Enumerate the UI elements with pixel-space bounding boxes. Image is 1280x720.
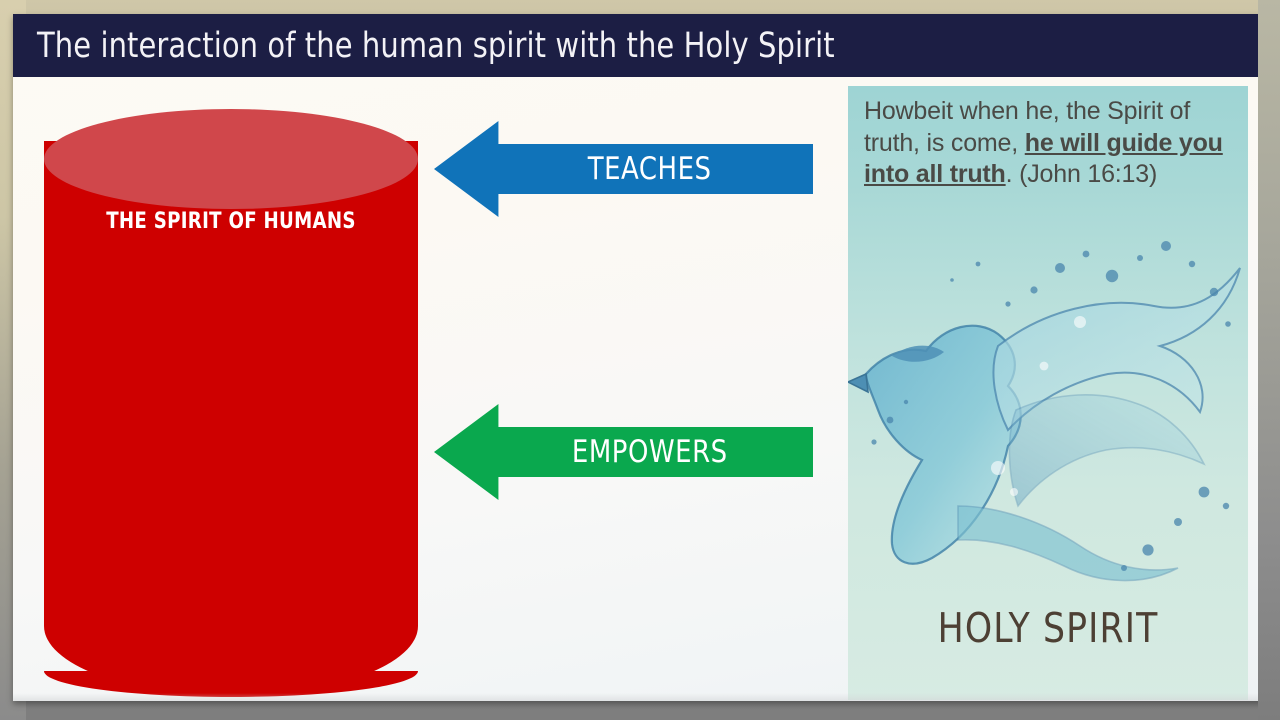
empowers-arrow: EMPOWERS: [434, 404, 813, 500]
slide-title-bar: The interaction of the human spirit with…: [13, 14, 1268, 77]
presentation-slide: The interaction of the human spirit with…: [13, 14, 1268, 701]
page-title: The interaction of the human spirit with…: [37, 26, 835, 66]
holy-spirit-panel: Howbeit when he, the Spirit of truth, is…: [848, 86, 1248, 700]
verse-reference: . (John 16:13): [1006, 160, 1157, 188]
human-spirit-cylinder: THE SPIRIT OF HUMANS: [31, 101, 406, 701]
slide-bottom-edge: [13, 693, 1268, 701]
empowers-arrow-label: EMPOWERS: [572, 434, 728, 470]
cylinder-top-ellipse: [44, 109, 418, 209]
water-splash-dove-artwork: [848, 206, 1248, 586]
teaches-arrow-label: TEACHES: [588, 151, 712, 187]
cylinder-label: THE SPIRIT OF HUMANS: [59, 209, 403, 234]
holy-spirit-caption: HOLY SPIRIT: [860, 604, 1236, 652]
verse-part-2: truth, is come,: [864, 129, 1025, 157]
scripture-verse: Howbeit when he, the Spirit of truth, is…: [864, 96, 1236, 191]
verse-part-1: Howbeit when he, the Spirit of: [864, 97, 1190, 125]
teaches-arrow: TEACHES: [434, 121, 813, 217]
desktop-backdrop: The interaction of the human spirit with…: [0, 0, 1280, 720]
